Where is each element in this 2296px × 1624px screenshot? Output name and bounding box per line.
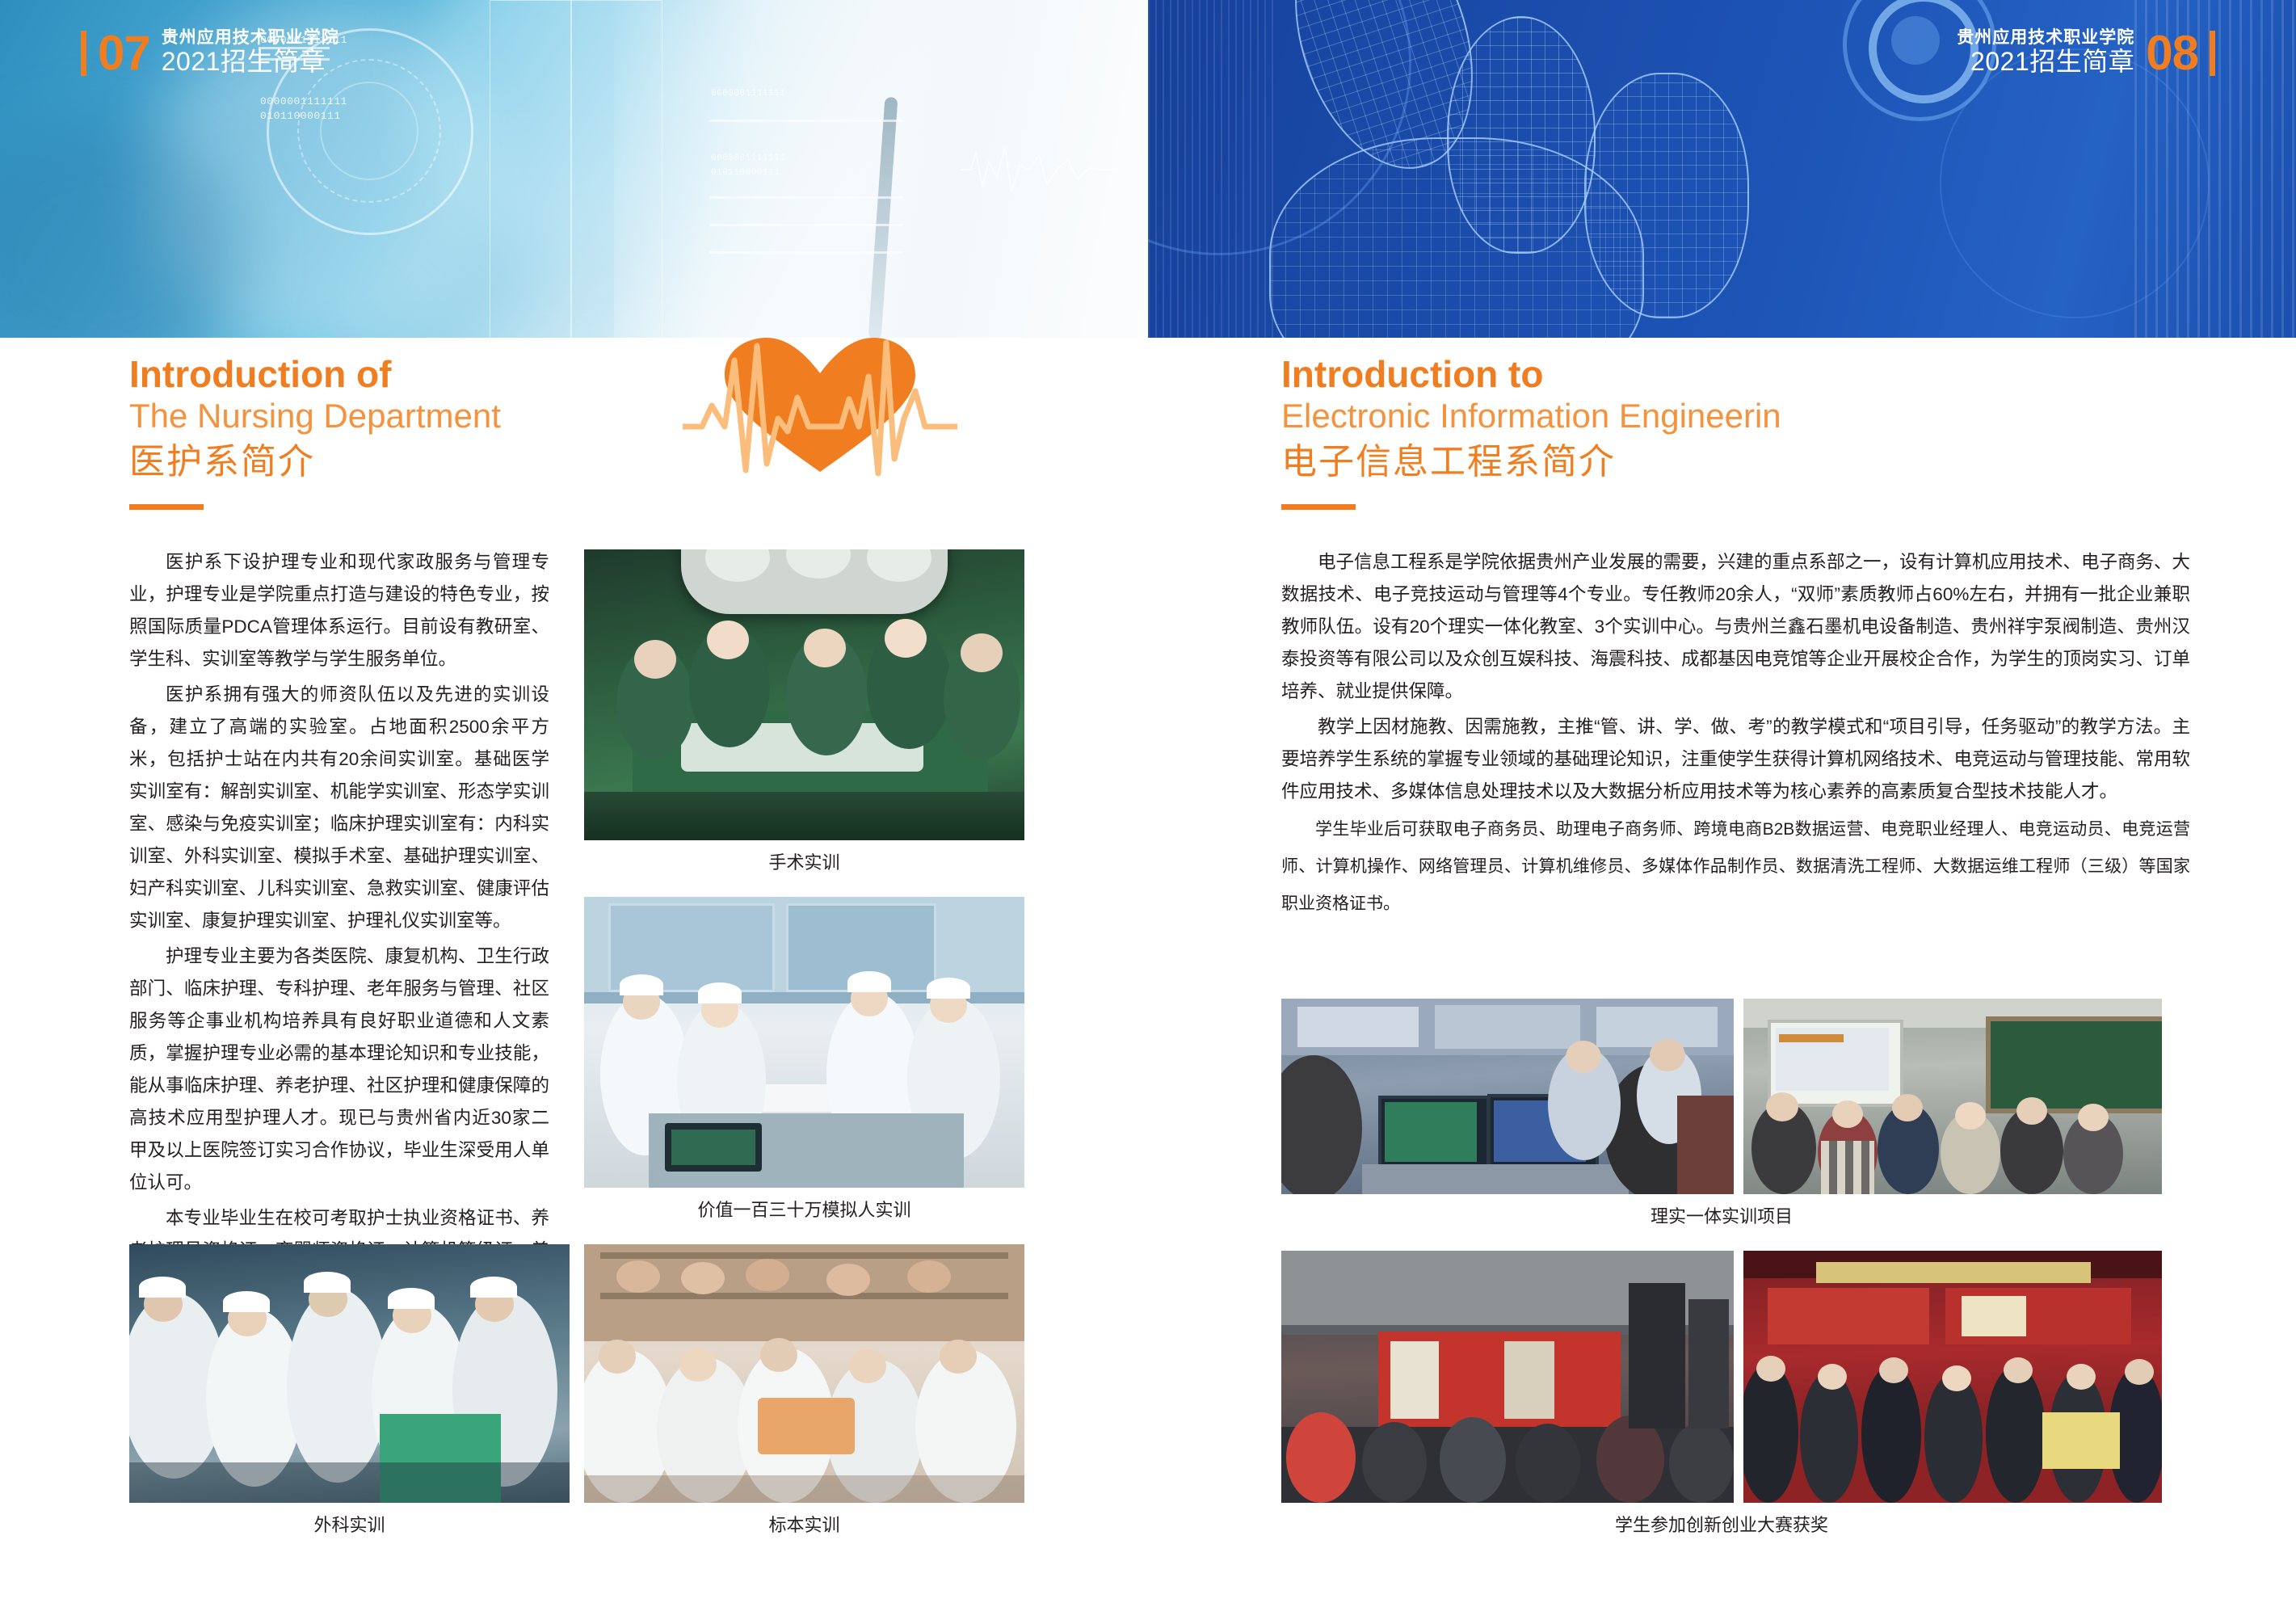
left-page: Introduction of The Nursing Department 医… [0,338,1148,1624]
page-number-value: 07 [98,30,150,76]
title-en-line1: Introduction to [1281,354,1781,396]
header-banner-left: 0000001111111 0000001111111 010110000111… [0,0,1148,338]
left-page-title-block: Introduction of The Nursing Department 医… [129,354,501,510]
photo-lab-computers [1281,999,1734,1194]
hud-panel [490,0,572,338]
photo-surgery [584,549,1024,840]
photo-competition-stage [1281,1251,1734,1503]
school-name: 贵州应用技术职业学院 [1957,28,2134,48]
waveform-icon [961,137,1115,202]
title-en-line2: The Nursing Department [129,396,501,436]
publication-title: 2021招生简章 [1957,48,2134,77]
title-cn: 电子信息工程系简介 [1281,439,1781,485]
page-number-bar [2210,31,2215,76]
caption-specimen: 标本实训 [584,1511,1024,1537]
hud-panel [570,0,662,338]
page-number-left: 07 贵州应用技术职业学院 2021招生简章 [81,28,339,76]
title-underline [129,504,204,510]
page-number-bar [81,31,86,76]
photo-competition-award [1743,1251,2162,1503]
heart-ecg-icon [683,328,957,482]
photo-specimen [584,1244,1024,1503]
caption-competition: 学生参加创新创业大赛获奖 [1281,1511,2162,1537]
title-en-line2: Electronic Information Engineerin [1281,396,1781,436]
paragraph: 电子信息工程系是学院依据贵州产业发展的需要，兴建的重点系部之一，设有计算机应用技… [1281,546,2190,708]
right-page-title-block: Introduction to Electronic Information E… [1281,354,1781,510]
page-number-value: 08 [2146,30,2198,76]
photo-classroom [1743,999,2162,1194]
photo-external [129,1244,570,1503]
paragraph: 医护系拥有强大的师资队伍以及先进的实训设备，建立了高端的实验室。占地面积2500… [129,679,549,937]
caption-surgery: 手术实训 [584,848,1024,874]
caption-simulator: 价值一百三十万模拟人实训 [584,1196,1024,1222]
caption-integrated: 理实一体实训项目 [1281,1202,2162,1228]
caption-external: 外科实训 [129,1511,570,1537]
right-page: Introduction to Electronic Information E… [1148,338,2296,1624]
school-name: 贵州应用技术职业学院 [162,28,339,48]
paragraph: 护理专业主要为各类医院、康复机构、卫生行政部门、临床护理、专科护理、老年服务与管… [129,940,549,1199]
title-underline [1281,504,1356,510]
hud-binary-text: 0000001111111 [260,95,347,107]
title-cn: 医护系简介 [129,439,501,485]
left-body-text: 医护系下设护理专业和现代家政服务与管理专业，护理专业是学院重点打造与建设的特色专… [129,546,549,1302]
header-banner-right: 贵州应用技术职业学院 2021招生简章 08 [1148,0,2296,338]
hud-binary-text: 010110000111 [260,110,341,122]
page-number-right: 贵州应用技术职业学院 2021招生简章 08 [1957,28,2215,76]
paragraph: 学生毕业后可获取电子商务员、助理电子商务师、跨境电商B2B数据运营、电竞职业经理… [1281,811,2190,923]
right-body-text: 电子信息工程系是学院依据贵州产业发展的需要，兴建的重点系部之一，设有计算机应用技… [1281,546,2190,926]
paragraph: 教学上因材施教、因需施教，主推“管、讲、学、做、考”的教学模式和“项目引导，任务… [1281,711,2190,808]
photo-simulator [584,897,1024,1188]
paragraph: 医护系下设护理专业和现代家政服务与管理专业，护理专业是学院重点打造与建设的特色专… [129,546,549,675]
publication-title: 2021招生简章 [162,48,339,77]
title-en-line1: Introduction of [129,354,501,396]
